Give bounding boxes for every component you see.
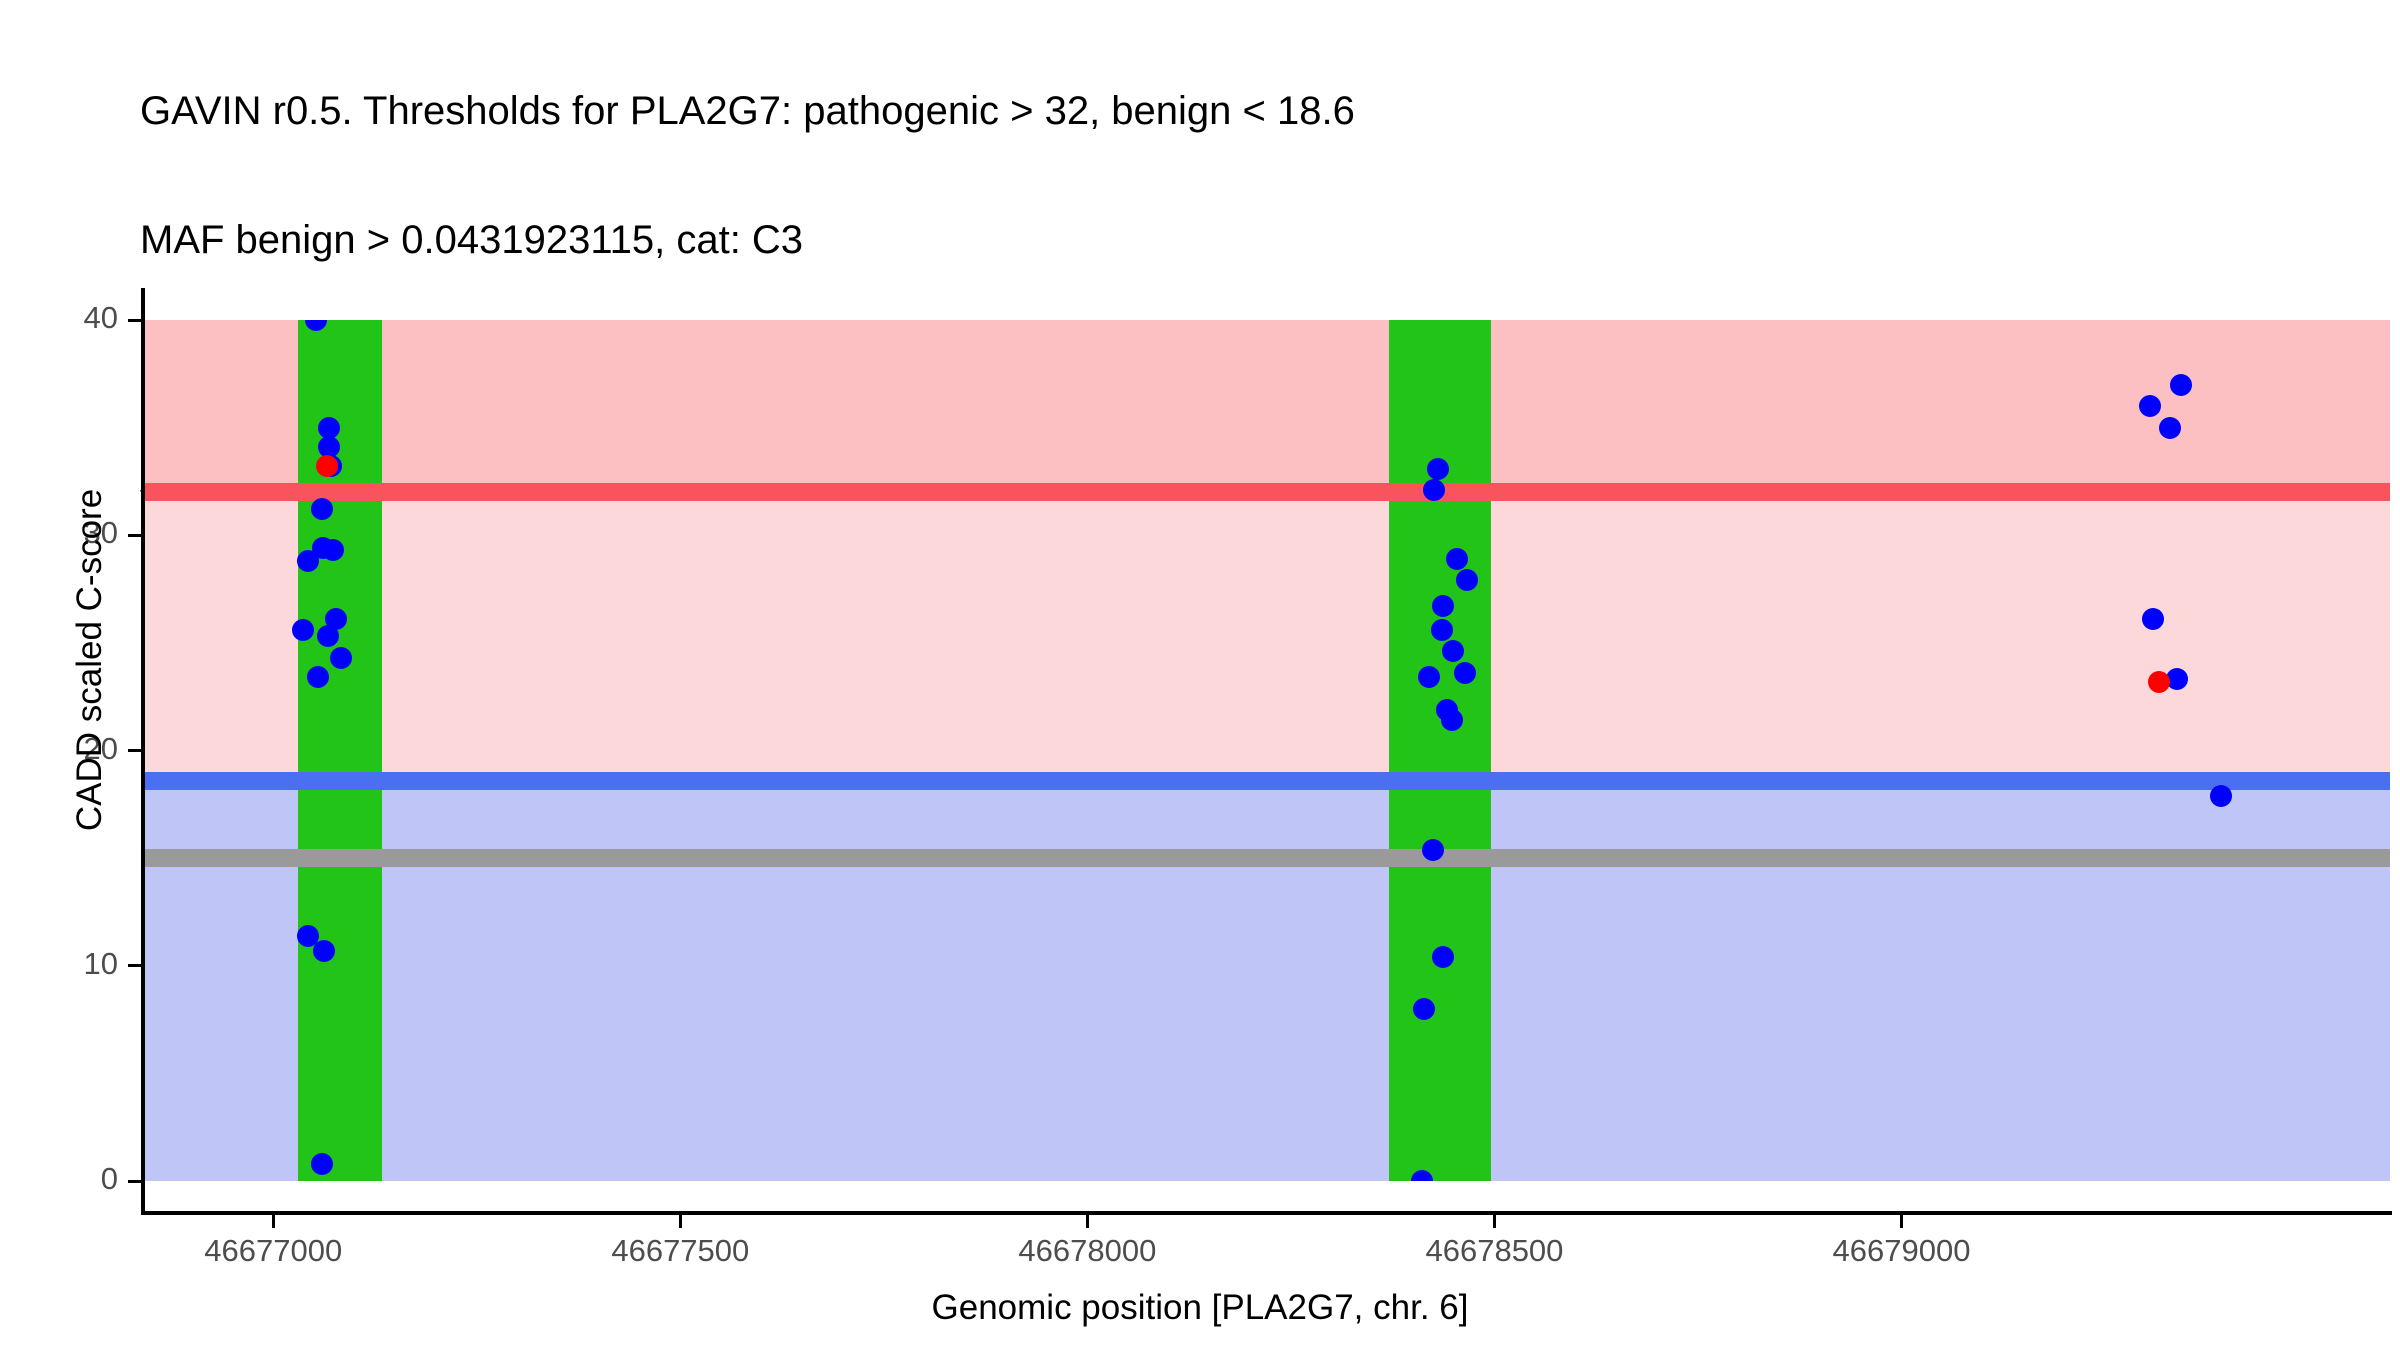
gnomad-variant-point[interactable] <box>1422 839 1444 861</box>
benign-threshold-line <box>143 772 2390 790</box>
x-axis-label: Genomic position [PLA2G7, chr. 6] <box>0 1288 2400 1328</box>
x-axis-tick <box>1086 1215 1089 1228</box>
x-tick-text: 46677500 <box>611 1233 749 1268</box>
x-axis-tick <box>679 1215 682 1228</box>
plot-panel <box>143 320 2390 1181</box>
y-axis-tick <box>128 964 142 967</box>
gnomad-variant-point[interactable] <box>2159 417 2181 439</box>
y-axis-tick-label: 0 <box>0 1161 118 1197</box>
y-axis-tick <box>128 319 142 322</box>
gnomad-variant-point[interactable] <box>330 647 352 669</box>
x-tick-text: 46678500 <box>1425 1233 1563 1268</box>
gnomad-variant-point[interactable] <box>1431 619 1453 641</box>
x-axis-tick <box>272 1215 275 1228</box>
x-axis-tick-label: 46679000 <box>1752 1233 2052 1269</box>
plot-canvas: GAVIN r0.5. Thresholds for PLA2G7: patho… <box>0 0 2400 1350</box>
x-axis-line <box>141 1211 2392 1215</box>
x-axis-tick <box>1900 1215 1903 1228</box>
gnomad-variant-point[interactable] <box>1427 458 1449 480</box>
pathogenic-region-band <box>143 320 2390 492</box>
x-tick-text: 46678000 <box>1018 1233 1156 1268</box>
gnomad-variant-point[interactable] <box>2170 374 2192 396</box>
pathogenic-threshold-line <box>143 483 2390 501</box>
gnomad-variant-point[interactable] <box>2139 395 2161 417</box>
title-line-1: GAVIN r0.5. Thresholds for PLA2G7: patho… <box>140 90 1413 133</box>
gnomad-variant-point[interactable] <box>1446 548 1468 570</box>
title-line-2: MAF benign > 0.0431923115, cat: C3 <box>140 219 1413 262</box>
clinvar-pathogenic-point[interactable] <box>2148 671 2170 693</box>
gnomad-variant-point[interactable] <box>311 1153 333 1175</box>
x-axis-tick-label: 46678500 <box>1344 1233 1644 1269</box>
gnomad-variant-point[interactable] <box>322 539 344 561</box>
y-axis-tick <box>128 749 142 752</box>
gnomad-variant-point[interactable] <box>1454 662 1476 684</box>
y-tick-text: 0 <box>101 1161 118 1196</box>
y-axis-tick <box>128 1180 142 1183</box>
fallback-threshold-line <box>143 849 2390 867</box>
refseq-exon-band <box>1389 320 1492 1181</box>
y-axis-tick <box>128 534 142 537</box>
benign-region-band <box>143 781 2390 1181</box>
x-tick-text: 46677000 <box>204 1233 342 1268</box>
x-axis-tick-label: 46677500 <box>530 1233 830 1269</box>
y-axis-label: CADD scaled C-score <box>70 230 110 1090</box>
gnomad-variant-point[interactable] <box>313 940 335 962</box>
vus-region-band <box>143 492 2390 780</box>
x-axis-tick <box>1493 1215 1496 1228</box>
x-axis-tick-label: 46678000 <box>937 1233 1237 1269</box>
x-axis-tick-label: 46677000 <box>123 1233 423 1269</box>
gnomad-variant-point[interactable] <box>2210 785 2232 807</box>
x-tick-text: 46679000 <box>1833 1233 1971 1268</box>
